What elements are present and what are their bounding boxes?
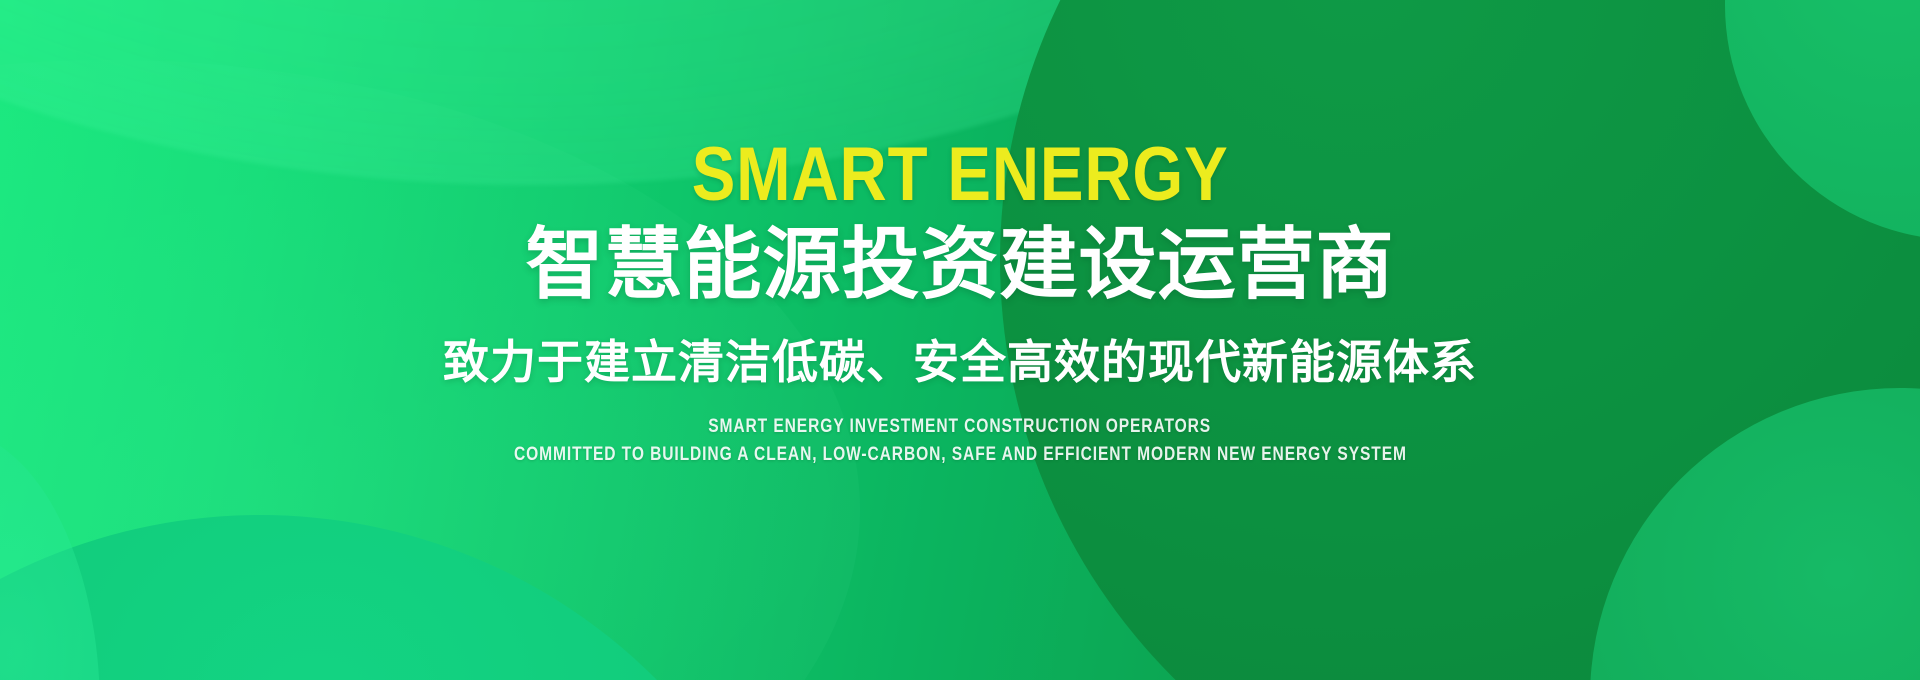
hero-banner: SMART ENERGY 智慧能源投资建设运营商 致力于建立清洁低碳、安全高效的… [0,0,1920,680]
banner-content: SMART ENERGY 智慧能源投资建设运营商 致力于建立清洁低碳、安全高效的… [0,0,1920,680]
subtitle-chinese: 致力于建立清洁低碳、安全高效的现代新能源体系 [443,336,1477,389]
headline-english: SMART ENERGY [692,140,1229,210]
tagline-english-line-2: COMMITTED TO BUILDING A CLEAN, LOW-CARBO… [514,443,1407,467]
headline-chinese: 智慧能源投资建设运营商 [525,224,1394,306]
tagline-group: SMART ENERGY INVESTMENT CONSTRUCTION OPE… [416,415,1505,468]
tagline-english-line-1: SMART ENERGY INVESTMENT CONSTRUCTION OPE… [709,415,1212,439]
